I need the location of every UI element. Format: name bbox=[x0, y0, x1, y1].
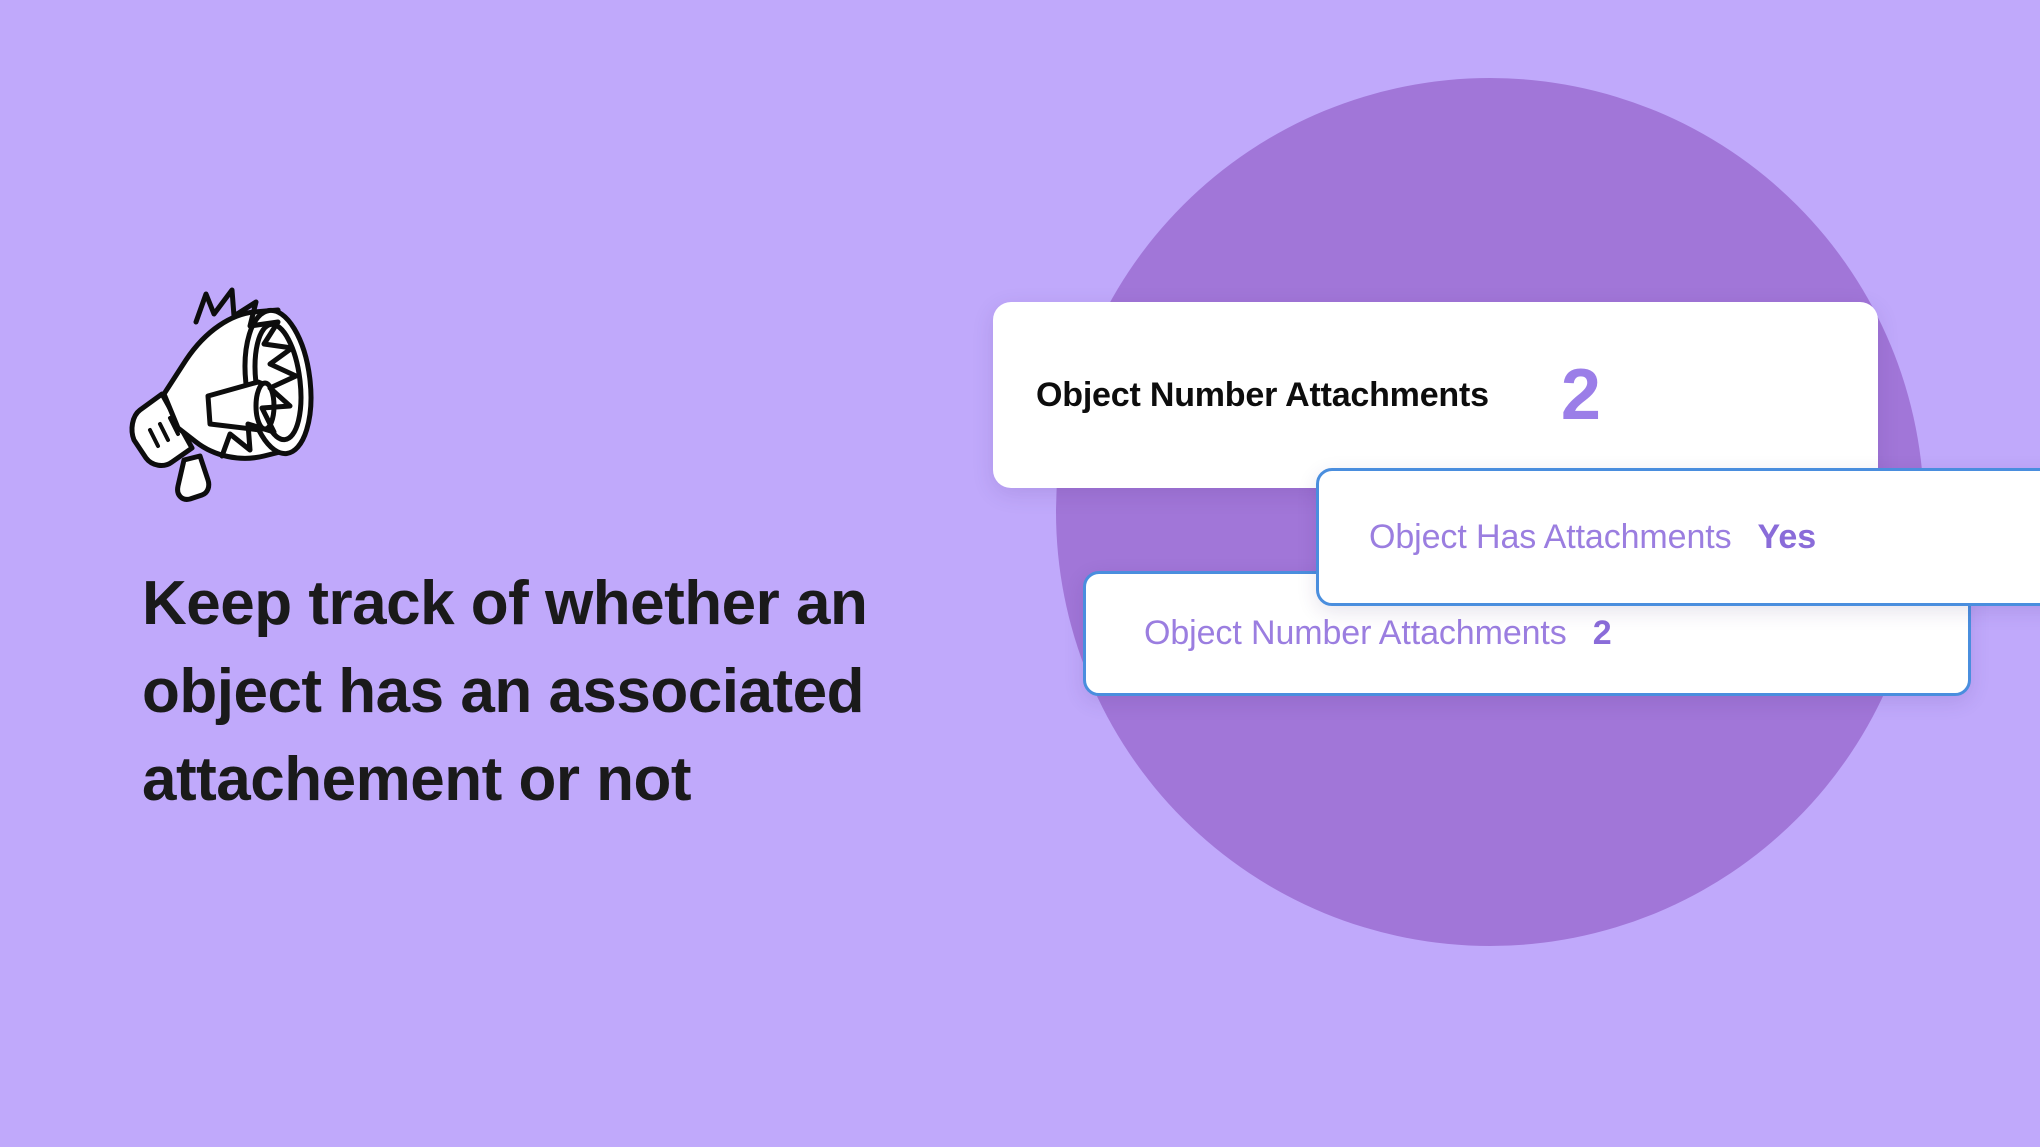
card-label: Object Number Attachments bbox=[1036, 376, 1489, 415]
card-object-number-attachments-highlight[interactable]: Object Number Attachments 2 bbox=[993, 302, 1878, 488]
megaphone-icon bbox=[128, 290, 378, 500]
slide-canvas: Keep track of whether an object has an a… bbox=[0, 0, 2040, 1147]
card-value: Yes bbox=[1758, 518, 1817, 557]
page-title: Keep track of whether an object has an a… bbox=[142, 560, 1022, 824]
left-content-column: Keep track of whether an object has an a… bbox=[0, 0, 1000, 1147]
card-label: Object Has Attachments bbox=[1369, 518, 1732, 557]
card-value: 2 bbox=[1593, 614, 1612, 653]
card-value: 2 bbox=[1561, 359, 1601, 431]
card-object-has-attachments[interactable]: Object Has Attachments Yes bbox=[1316, 468, 2040, 606]
card-label: Object Number Attachments bbox=[1144, 614, 1567, 653]
